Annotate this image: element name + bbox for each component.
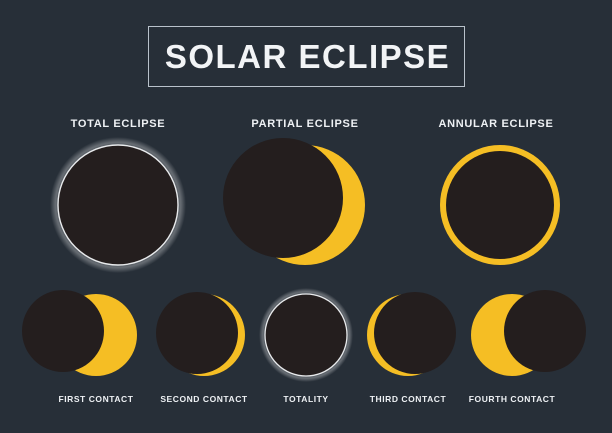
solar-eclipse-poster: SOLAR ECLIPSE TOTAL (0, 0, 612, 433)
totality-graphic (261, 290, 351, 380)
third-contact-figure (363, 290, 453, 380)
fourth-contact-figure (467, 290, 557, 380)
label-partial-eclipse: PARTIAL ECLIPSE (205, 118, 405, 130)
annular-eclipse-graphic (430, 135, 570, 275)
fourth-contact-graphic (467, 290, 557, 380)
totality-figure (261, 290, 351, 380)
second-contact-figure (159, 290, 249, 380)
moon-disc (223, 138, 343, 258)
label-total-eclipse: TOTAL ECLIPSE (18, 118, 218, 130)
moon-disc (374, 292, 456, 374)
annular-eclipse-figure (430, 135, 570, 275)
second-contact-graphic (159, 290, 249, 380)
moon-disc (58, 145, 178, 265)
first-contact-graphic (51, 290, 141, 380)
page-title: SOLAR ECLIPSE (149, 27, 466, 88)
label-annular-eclipse: ANNULAR ECLIPSE (396, 118, 596, 130)
total-eclipse-graphic (48, 135, 188, 275)
partial-eclipse-graphic (235, 135, 375, 275)
total-eclipse-figure (48, 135, 188, 275)
moon-disc (22, 290, 104, 372)
moon-disc (446, 151, 554, 259)
label-fourth-contact: FOURTH CONTACT (442, 394, 582, 404)
moon-disc (265, 294, 347, 376)
title-box: SOLAR ECLIPSE (148, 26, 465, 87)
third-contact-graphic (363, 290, 453, 380)
first-contact-figure (51, 290, 141, 380)
partial-eclipse-figure (235, 135, 375, 275)
moon-disc (504, 290, 586, 372)
moon-disc (156, 292, 238, 374)
